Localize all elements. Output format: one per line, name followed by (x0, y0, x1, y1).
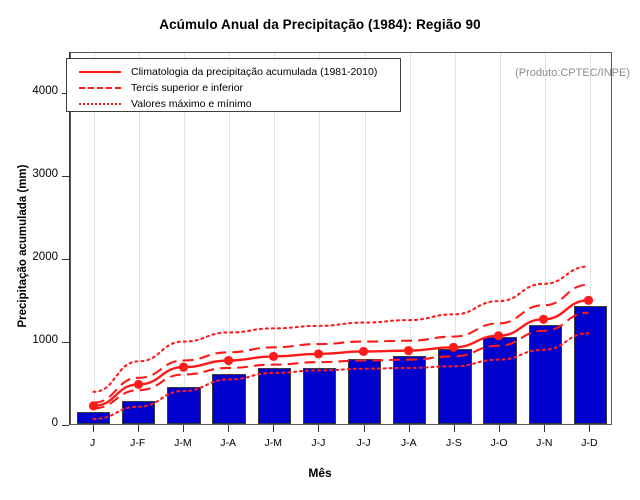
legend-item: Tercis superior e inferior (67, 80, 400, 96)
producer-credit: (Produto:CPTEC/INPE) (515, 67, 630, 79)
legend-label: Climatologia da precipitação acumulada (… (131, 64, 377, 80)
x-tick (364, 425, 365, 432)
legend-item: Valores máximo e mínimo (67, 96, 400, 112)
curve-dashed (94, 285, 589, 403)
data-point-marker (404, 346, 413, 355)
legend-key-solid (79, 71, 121, 73)
data-point-marker (449, 343, 458, 352)
x-tick (228, 425, 229, 432)
data-point-marker (359, 347, 368, 356)
y-tick-label: 3000 (0, 168, 58, 180)
y-tick (62, 425, 69, 426)
y-tick (62, 176, 69, 177)
x-tick (409, 425, 410, 432)
page-title: Acúmulo Anual da Precipitação (1984): Re… (0, 17, 640, 32)
chart-legend: Climatologia da precipitação acumulada (… (66, 58, 401, 112)
x-tick (589, 425, 590, 432)
x-tick (93, 425, 94, 432)
curve-dotted (94, 267, 589, 392)
curve-solid (94, 300, 589, 406)
data-point-marker (314, 349, 323, 358)
data-point-marker (584, 296, 593, 305)
data-point-marker (224, 356, 233, 365)
legend-label: Tercis superior e inferior (131, 80, 243, 96)
y-tick-label: 1000 (0, 334, 58, 346)
y-axis-label: Precipitação acumulada (mm) (17, 86, 29, 406)
x-tick (138, 425, 139, 432)
x-tick (318, 425, 319, 432)
data-point-marker (179, 363, 188, 372)
x-tick-label: J-D (559, 437, 619, 449)
y-tick-label: 4000 (0, 85, 58, 97)
data-point-marker (494, 331, 503, 340)
x-tick (499, 425, 500, 432)
data-point-marker (539, 315, 548, 324)
x-tick (273, 425, 274, 432)
legend-key-dotted (79, 103, 121, 105)
data-point-marker (134, 380, 143, 389)
data-point-marker (269, 352, 278, 361)
chart-page: Acúmulo Anual da Precipitação (1984): Re… (0, 0, 640, 500)
legend-key-dashed (79, 87, 121, 89)
x-tick (454, 425, 455, 432)
legend-label: Valores máximo e mínimo (131, 96, 252, 112)
y-tick (62, 342, 69, 343)
y-tick-label: 0 (0, 417, 58, 429)
y-tick (62, 259, 69, 260)
x-tick (544, 425, 545, 432)
x-axis-label: Mês (0, 466, 640, 480)
x-tick (183, 425, 184, 432)
y-tick-label: 2000 (0, 251, 58, 263)
legend-item: Climatologia da precipitação acumulada (… (67, 64, 400, 80)
